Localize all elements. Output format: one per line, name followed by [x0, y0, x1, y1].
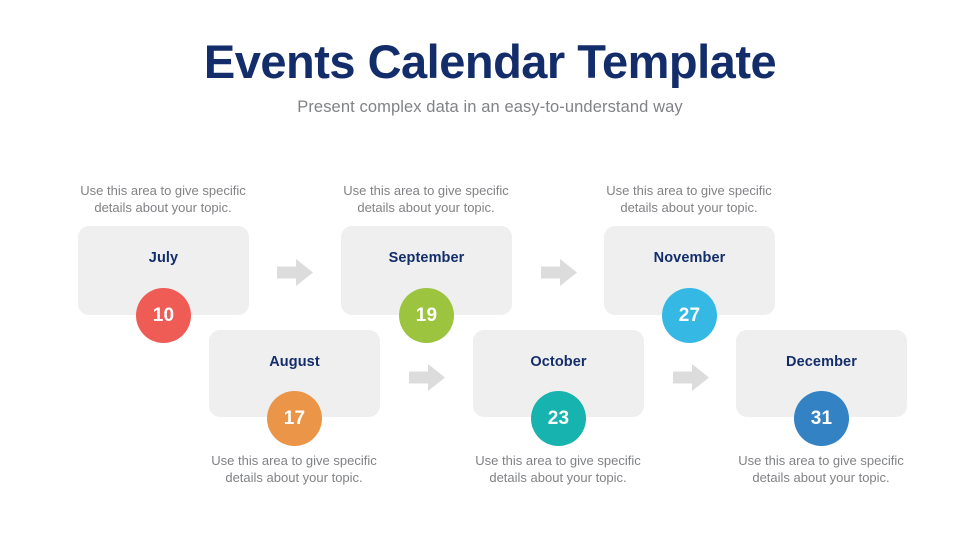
day-number-august: 17 [284, 408, 306, 430]
events-calendar-diagram: Use this area to give specific details a… [0, 0, 980, 551]
day-badge-july[interactable]: 10 [136, 288, 191, 343]
day-number-july: 10 [153, 305, 175, 327]
caption-october: Use this area to give specific details a… [458, 453, 658, 487]
month-label-december: December [736, 354, 907, 370]
caption-line: Use this area to give specific [589, 183, 789, 200]
caption-december: Use this area to give specific details a… [721, 453, 921, 487]
day-number-december: 31 [811, 408, 833, 430]
arrow-right-icon [673, 364, 709, 391]
caption-july: Use this area to give specific details a… [63, 183, 263, 217]
month-label-august: August [209, 354, 380, 370]
arrow-right-icon [541, 259, 577, 286]
day-badge-september[interactable]: 19 [399, 288, 454, 343]
month-label-october: October [473, 354, 644, 370]
caption-november: Use this area to give specific details a… [589, 183, 789, 217]
day-badge-august[interactable]: 17 [267, 391, 322, 446]
caption-line: details about your topic. [589, 200, 789, 217]
caption-september: Use this area to give specific details a… [326, 183, 526, 217]
day-badge-december[interactable]: 31 [794, 391, 849, 446]
day-number-november: 27 [679, 305, 701, 327]
day-badge-november[interactable]: 27 [662, 288, 717, 343]
caption-line: Use this area to give specific [63, 183, 263, 200]
slide-canvas: Events Calendar Template Present complex… [0, 0, 980, 551]
arrow-right-icon [409, 364, 445, 391]
caption-line: Use this area to give specific [721, 453, 921, 470]
caption-line: details about your topic. [721, 470, 921, 487]
caption-line: Use this area to give specific [194, 453, 394, 470]
caption-line: Use this area to give specific [326, 183, 526, 200]
month-label-september: September [341, 250, 512, 266]
month-label-july: July [78, 250, 249, 266]
day-number-october: 23 [548, 408, 570, 430]
caption-august: Use this area to give specific details a… [194, 453, 394, 487]
arrow-right-icon [277, 259, 313, 286]
day-number-september: 19 [416, 305, 438, 327]
caption-line: details about your topic. [458, 470, 658, 487]
caption-line: Use this area to give specific [458, 453, 658, 470]
caption-line: details about your topic. [194, 470, 394, 487]
caption-line: details about your topic. [63, 200, 263, 217]
day-badge-october[interactable]: 23 [531, 391, 586, 446]
caption-line: details about your topic. [326, 200, 526, 217]
month-label-november: November [604, 250, 775, 266]
